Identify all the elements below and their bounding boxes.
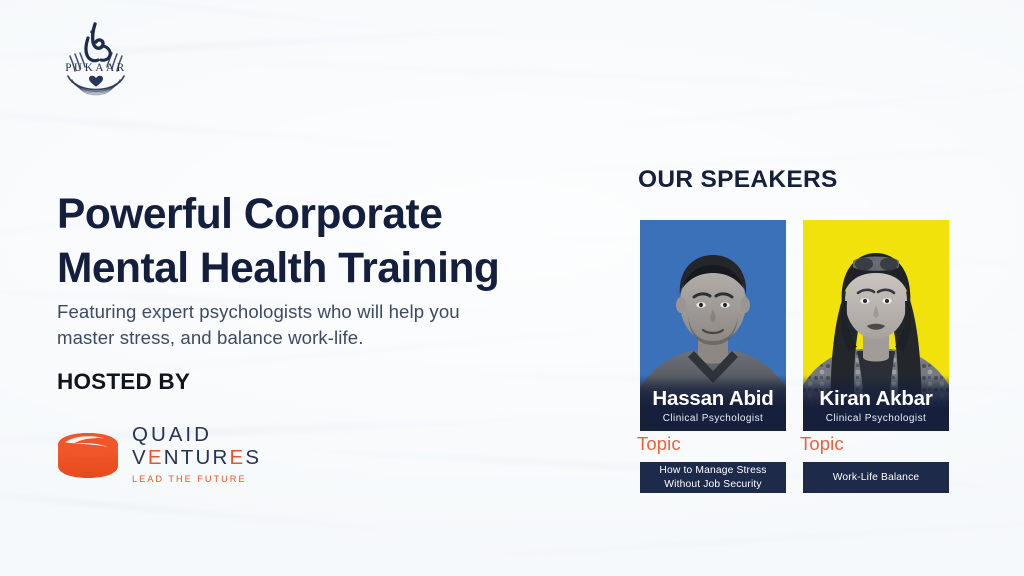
page-subtitle: Featuring expert psychologists who will … (57, 299, 557, 352)
topic-1-line-2: Without Job Security (659, 478, 766, 492)
topic-1-line-1: How to Manage Stress (659, 465, 766, 476)
speaker-role-2: Clinical Psychologist (826, 413, 927, 424)
speakers-section-title: OUR SPEAKERS (638, 166, 838, 194)
topic-label-1: Topic (637, 433, 681, 455)
ventures-char-s: S (245, 446, 261, 469)
speaker-name-2: Kiran Akbar (819, 388, 932, 410)
poster-canvas: PUKAAR Powerful Corporate Mental Health … (0, 0, 1024, 576)
page-title: Powerful Corporate Mental Health Trainin… (57, 188, 617, 296)
subtitle-line-2: master stress, and balance work-life. (57, 325, 557, 351)
quaid-ventures-cylinder-icon (56, 430, 120, 482)
speaker-name-bar-2: Kiran Akbar Clinical Psychologist (803, 375, 949, 431)
quaid-ventures-wordmark: QUAID VENTURES LEAD THE FUTURE (132, 424, 312, 484)
topic-box-2: Work-Life Balance (803, 462, 949, 493)
quaid-word: QUAID (132, 424, 312, 447)
quaid-ventures-logo: QUAID VENTURES LEAD THE FUTURE (56, 424, 306, 490)
ventures-char-e2: E (230, 446, 246, 469)
headline-line-2: Mental Health Training (57, 242, 617, 296)
speaker-card-kiran-akbar: Kiran Akbar Clinical Psychologist (803, 220, 949, 431)
speaker-name-1: Hassan Abid (652, 388, 773, 410)
topic-2-line-1: Work-Life Balance (833, 471, 920, 485)
topic-box-1: How to Manage Stress Without Job Securit… (640, 462, 786, 493)
speaker-card-hassan-abid: Hassan Abid Clinical Psychologist (640, 220, 786, 431)
quaid-ventures-tagline: LEAD THE FUTURE (132, 474, 312, 484)
headline-line-1: Powerful Corporate (57, 191, 442, 238)
subtitle-line-1: Featuring expert psychologists who will … (57, 301, 460, 322)
ventures-word: VENTURES (132, 447, 312, 470)
speaker-role-1: Clinical Psychologist (663, 413, 764, 424)
ventures-chars-ntur: NTUR (164, 446, 230, 469)
ventures-char-e1: E (148, 446, 164, 469)
topic-label-2: Topic (800, 433, 844, 455)
speaker-name-bar-1: Hassan Abid Clinical Psychologist (640, 375, 786, 431)
ventures-char-v: V (132, 446, 148, 469)
pukaar-wordmark: PUKAAR (65, 62, 127, 74)
hosted-by-label: HOSTED BY (57, 369, 190, 395)
pukaar-logo: PUKAAR (48, 16, 144, 104)
